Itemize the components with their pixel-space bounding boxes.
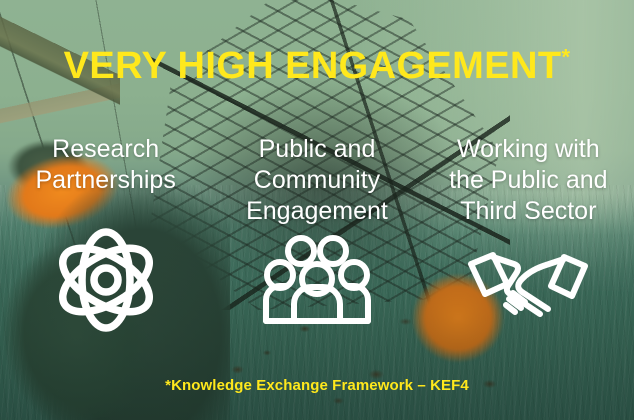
pillar-columns: Research Partnerships Public and Communi… [0, 134, 634, 334]
pillar-heading: Research Partnerships [35, 134, 175, 196]
slide-title: VERY HIGH ENGAGEMENT* [0, 47, 634, 85]
pillar-public-community-engagement: Public and Community Engagement [211, 134, 422, 334]
pillar-working-public-third-sector: Working with the Public and Third Sector [423, 134, 634, 334]
people-group-icon [263, 234, 371, 324]
slide-title-asterisk: * [561, 44, 570, 69]
slide-content: VERY HIGH ENGAGEMENT* Research Partnersh… [0, 0, 634, 420]
slide-canvas: VERY HIGH ENGAGEMENT* Research Partnersh… [0, 0, 634, 420]
slide-title-text: VERY HIGH ENGAGEMENT [64, 45, 562, 87]
pillar-research-partnerships: Research Partnerships [0, 134, 211, 334]
handshake-icon [467, 246, 589, 318]
footnote-kef: *Knowledge Exchange Framework – KEF4 [0, 377, 634, 394]
pillar-heading: Working with the Public and Third Sector [449, 134, 607, 227]
pillar-heading: Public and Community Engagement [246, 134, 388, 227]
atom-icon [44, 228, 168, 332]
